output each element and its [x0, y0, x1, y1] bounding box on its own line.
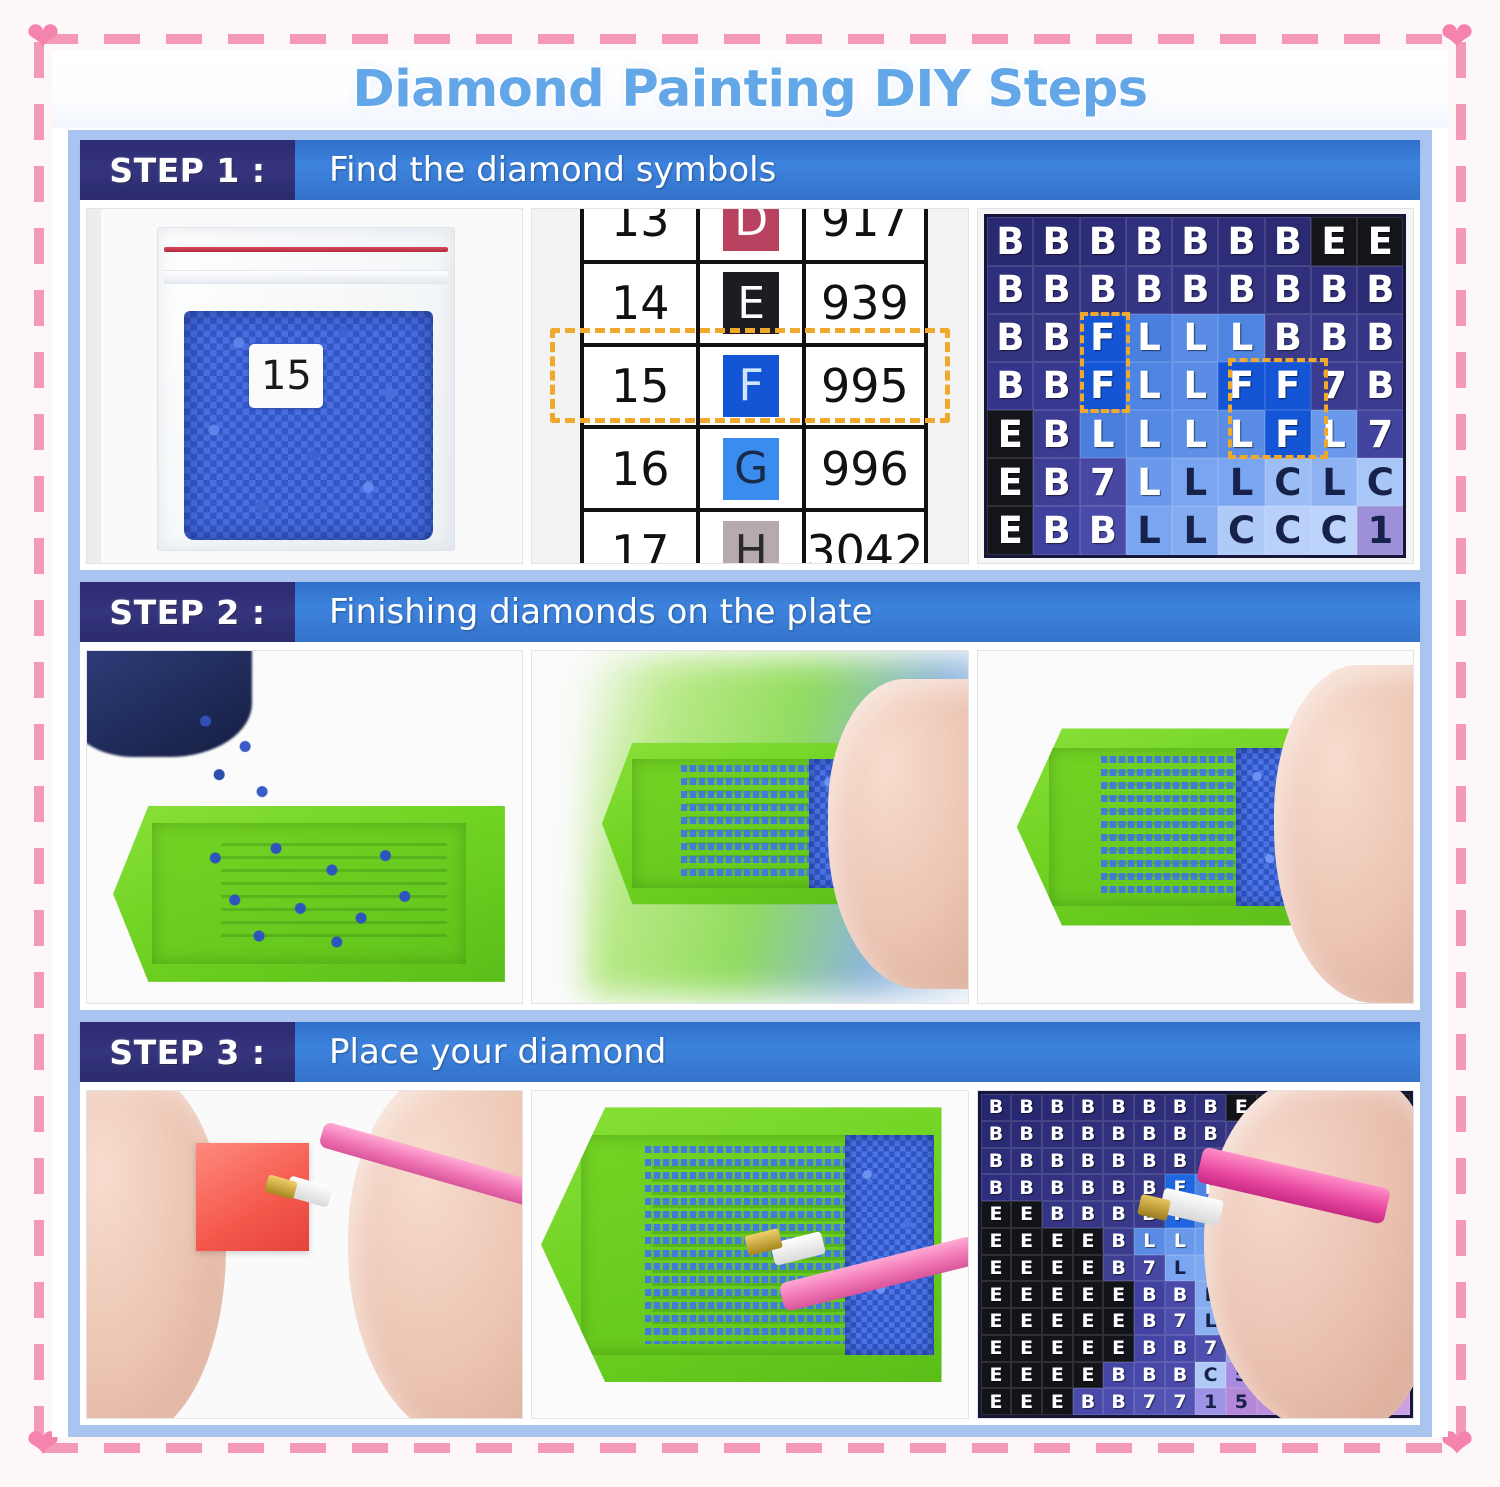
symbol-cell: C [1257, 1335, 1288, 1362]
symbol-cell: C [1195, 1362, 1226, 1389]
step-2-photo-row [80, 642, 1420, 1010]
symbol-cell: C [1349, 1308, 1380, 1335]
dmc-index-cell: 17 [584, 525, 696, 564]
shake-scene [532, 651, 967, 1003]
symbol-cell: C [1349, 1362, 1380, 1389]
symbol-cell: 1 [1257, 1362, 1288, 1389]
symbol-cell: B [1033, 458, 1079, 506]
dmc-row: 17H3042 [584, 512, 924, 564]
symbol-cell: B [1218, 266, 1264, 314]
symbol-cell: B [1042, 1148, 1073, 1175]
symbol-cell: C [1379, 1281, 1410, 1308]
symbol-cell: L [1218, 410, 1264, 458]
step-header-2: STEP 2 : Finishing diamonds on the plate [80, 582, 1420, 642]
symbol-cell: B [1349, 1174, 1380, 1201]
symbol-cell: 7 [1134, 1255, 1165, 1282]
symbol-cell: B [1134, 1174, 1165, 1201]
symbol-cell: F [1265, 362, 1311, 410]
symbol-cell: B [1265, 314, 1311, 362]
symbol-cell: B [1042, 1121, 1073, 1148]
step-block-2: STEP 2 : Finishing diamonds on the plate [80, 582, 1420, 1010]
symbol-cell: E [1103, 1308, 1134, 1335]
symbol-cell: E [1073, 1362, 1104, 1389]
symbol-cell: B [1379, 1201, 1410, 1228]
symbol-cell: B [1080, 217, 1126, 265]
symbol-cell: 7 [1349, 1228, 1380, 1255]
symbol-cell: L [1318, 1228, 1349, 1255]
symbol-cell: B [1042, 1201, 1073, 1228]
symbol-cell: E [1311, 217, 1357, 265]
symbol-cell: 7 [1134, 1388, 1165, 1415]
dmc-index-cell: 14 [584, 276, 696, 330]
dashed-border-left [34, 42, 44, 1445]
symbol-cell: L [1195, 1228, 1226, 1255]
symbol-cell: E [1042, 1308, 1073, 1335]
symbol-cell: E [1103, 1281, 1134, 1308]
symbol-cell: B [1103, 1255, 1134, 1282]
symbol-cell: B [1357, 314, 1403, 362]
symbol-cell: E [1042, 1281, 1073, 1308]
hand [1274, 665, 1414, 1003]
symbol-cell: L [1126, 314, 1172, 362]
dmc-index-cell: 13 [584, 208, 696, 247]
symbol-cell: E [1073, 1281, 1104, 1308]
symbol-cell: B [1379, 1148, 1410, 1175]
dmc-scene: 13D91714E93915F99516G99617H3042 [532, 209, 967, 563]
symbol-cell: B [1257, 1148, 1288, 1175]
symbol-cell: 5 [1379, 1388, 1410, 1415]
symbol-grid-step3: BBBBBBBBEEEEEEBBBBBBBBBBEEBBBBBBBBBBBBBB… [978, 1091, 1413, 1418]
symbol-cell: L [1172, 410, 1218, 458]
symbol-cell: E [1318, 1121, 1349, 1148]
symbol-cell: L [1195, 1308, 1226, 1335]
symbol-cell: L [1172, 506, 1218, 554]
aligned-scene [978, 651, 1413, 1003]
symbol-cell: E [1287, 1121, 1318, 1148]
symbol-cell: L [1226, 1174, 1257, 1201]
symbol-cell: 7 [1195, 1335, 1226, 1362]
symbol-cell: B [1126, 266, 1172, 314]
symbol-cell: 5 [1257, 1388, 1288, 1415]
symbol-cell: B [1172, 217, 1218, 265]
symbol-cell: B [1126, 217, 1172, 265]
symbol-cell: B [1134, 1148, 1165, 1175]
symbol-cell: E [981, 1281, 1012, 1308]
symbol-cell: L [1311, 458, 1357, 506]
symbol-cell: C [1287, 1308, 1318, 1335]
symbol-cell: B [981, 1174, 1012, 1201]
dmc-chart-photo: 13D91714E93915F99516G99617H3042 [531, 208, 968, 564]
symbol-cell: C [1318, 1255, 1349, 1282]
symbol-cell: B [987, 362, 1033, 410]
symbol-cell: F [1165, 1201, 1196, 1228]
symbol-cell: B [981, 1148, 1012, 1175]
symbol-cell: B [1318, 1174, 1349, 1201]
symbol-cell: C [1257, 1308, 1288, 1335]
symbol-cell: C [1218, 506, 1264, 554]
symbol-cell: 1 [1195, 1388, 1226, 1415]
step-header-3: STEP 3 : Place your diamond [80, 1022, 1420, 1082]
symbol-cell: B [1073, 1201, 1104, 1228]
dmc-symbol-swatch: F [723, 355, 779, 417]
symbol-cell: B [987, 266, 1033, 314]
symbol-cell: L [1218, 314, 1264, 362]
instruction-card: Diamond Painting DIY Steps STEP 1 : Find… [52, 50, 1448, 1437]
symbol-cell: B [1134, 1201, 1165, 1228]
symbol-cell: 5 [1226, 1388, 1257, 1415]
symbol-cell: E [1011, 1362, 1042, 1389]
symbol-cell: 7 [1080, 458, 1126, 506]
symbol-cell: L [1126, 458, 1172, 506]
symbol-cell: B [1165, 1094, 1196, 1121]
symbol-cell: C [1257, 1255, 1288, 1282]
dmc-index-cell: 15 [584, 359, 696, 413]
symbol-cell: B [1033, 266, 1079, 314]
symbol-grid-step1: BBBBBBBEEBBBBBBBBBBBFLLLBBBBBFLLFF7BEBLL… [984, 214, 1406, 557]
symbol-cell: E [1287, 1094, 1318, 1121]
symbol-cell: E [981, 1228, 1012, 1255]
dmc-code-cell: 939 [806, 276, 924, 330]
symbol-cell: L [1218, 458, 1264, 506]
place-on-canvas-photo: BBBBBBBBEEEEEEBBBBBBBBBBEEBBBBBBBBBBBBBB… [977, 1090, 1414, 1419]
dmc-symbol-cell: D [696, 208, 806, 260]
symbol-cell: B [981, 1121, 1012, 1148]
symbol-cell: C [1379, 1362, 1410, 1389]
symbol-cell: C [1265, 458, 1311, 506]
symbol-cell: B [1011, 1121, 1042, 1148]
symbol-cell: C [1318, 1362, 1349, 1389]
symbol-cell: B [1218, 217, 1264, 265]
symbol-cell: L [1226, 1255, 1257, 1282]
symbol-cell: 5 [1318, 1388, 1349, 1415]
symbol-cell: 7 [1357, 410, 1403, 458]
dmc-code-cell: 917 [806, 208, 924, 247]
dashed-border-top [42, 34, 1458, 44]
symbol-cell: B [1103, 1094, 1134, 1121]
symbol-cell: B [1349, 1201, 1380, 1228]
symbol-cell: B [1134, 1308, 1165, 1335]
step-tag-3: STEP 3 : [80, 1022, 295, 1082]
symbol-cell: B [1011, 1174, 1042, 1201]
symbol-cell: C [1349, 1255, 1380, 1282]
dmc-code-cell: 995 [806, 359, 924, 413]
symbol-cell: B [1011, 1148, 1042, 1175]
symbol-cell: E [1257, 1094, 1288, 1121]
symbol-cell: E [1357, 217, 1403, 265]
symbol-cell: B [1311, 314, 1357, 362]
symbol-cell: B [1080, 506, 1126, 554]
symbol-cell: B [1311, 266, 1357, 314]
symbol-cell: E [987, 506, 1033, 554]
shake-tray-photo [531, 650, 968, 1004]
dmc-code-cell: 996 [806, 442, 924, 496]
symbol-cell: B [1033, 362, 1079, 410]
symbol-cell: C [1287, 1362, 1318, 1389]
symbol-cell: B [1257, 1121, 1288, 1148]
symbol-cell: B [1103, 1228, 1134, 1255]
symbol-cell: E [1073, 1335, 1104, 1362]
symbol-cell: B [1379, 1174, 1410, 1201]
symbol-cell: L [1172, 458, 1218, 506]
symbol-cell: L [1195, 1174, 1226, 1201]
symbol-cell: B [1195, 1148, 1226, 1175]
symbol-cell: B [1265, 217, 1311, 265]
symbol-cell: E [981, 1388, 1012, 1415]
symbol-cell: B [1265, 266, 1311, 314]
canvas-symbol-grid-photo: BBBBBBBEEBBBBBBBBBBBFLLLBBBBBFLLFF7BEBLL… [977, 208, 1414, 564]
symbol-cell: B [1195, 1121, 1226, 1148]
green-tray [541, 1107, 942, 1382]
step-caption-1: Find the diamond symbols [295, 140, 1420, 200]
symbol-cell: F [1287, 1228, 1318, 1255]
symbol-cell: L [1287, 1255, 1318, 1282]
symbol-cell: E [981, 1255, 1012, 1282]
symbol-cell: B [1287, 1148, 1318, 1175]
symbol-cell: E [1011, 1228, 1042, 1255]
symbol-cell: B [987, 314, 1033, 362]
bead-bag-photo: 15 [86, 208, 523, 564]
pickup-bead-photo [531, 1090, 968, 1419]
symbol-cell: L [1226, 1201, 1257, 1228]
symbol-cell: L [1195, 1281, 1226, 1308]
symbol-cell: B [981, 1094, 1012, 1121]
symbol-cell: L [1311, 410, 1357, 458]
symbol-cell: B [1103, 1362, 1134, 1389]
symbol-cell: B [1134, 1121, 1165, 1148]
symbol-cell: E [1073, 1228, 1104, 1255]
canvas-scene: BBBBBBBBEEEEEEBBBBBBBBBBEEBBBBBBBBBBBBBB… [978, 1091, 1413, 1418]
symbol-cell: B [1073, 1174, 1104, 1201]
step-tag-2: STEP 2 : [80, 582, 295, 642]
dmc-row: 15F995 [584, 347, 924, 430]
symbol-cell: 7 [1311, 362, 1357, 410]
symbol-cell: E [1103, 1335, 1134, 1362]
symbol-cell: E [1011, 1388, 1042, 1415]
step-1-photo-row: 15 13D91714E93915F99516G99617H3042 BBBBB… [80, 200, 1420, 570]
symbol-cell: B [1134, 1281, 1165, 1308]
symbol-cell: L [1165, 1255, 1196, 1282]
symbol-cell: B [1033, 217, 1079, 265]
symbol-cell: L [1126, 506, 1172, 554]
title-banner: Diamond Painting DIY Steps [52, 50, 1448, 128]
symbol-cell: E [1042, 1255, 1073, 1282]
symbol-cell: 7 [1165, 1388, 1196, 1415]
symbol-cell: L [1257, 1201, 1288, 1228]
symbol-cell: C [1379, 1255, 1410, 1282]
symbol-cell: B [1379, 1121, 1410, 1148]
symbol-cell: B [1011, 1094, 1042, 1121]
symbol-cell: F [1080, 362, 1126, 410]
pour-beads-photo [86, 650, 523, 1004]
step-block-3: STEP 3 : Place your diamond [80, 1022, 1420, 1425]
symbol-cell: E [1011, 1308, 1042, 1335]
dashed-border-right [1456, 42, 1466, 1445]
symbol-cell: B [1080, 266, 1126, 314]
steps-container: STEP 1 : Find the diamond symbols 15 [68, 130, 1432, 1437]
symbol-cell: L [1257, 1174, 1288, 1201]
dmc-symbol-swatch: H [723, 521, 779, 564]
symbol-cell: C [1318, 1281, 1349, 1308]
pour-scene [87, 651, 522, 1003]
symbol-cell: E [1073, 1255, 1104, 1282]
symbol-cell: F [1287, 1201, 1318, 1228]
symbol-cell: L [1126, 362, 1172, 410]
step-caption-3: Place your diamond [295, 1022, 1420, 1082]
symbol-cell: B [1349, 1121, 1380, 1148]
symbol-cell: L [1165, 1228, 1196, 1255]
pickup-scene [532, 1091, 967, 1418]
symbol-cell: C [1318, 1308, 1349, 1335]
symbol-cell: L [1226, 1228, 1257, 1255]
symbol-cell: E [1042, 1335, 1073, 1362]
symbol-cell: B [1318, 1148, 1349, 1175]
symbol-cell: B [1357, 266, 1403, 314]
symbol-cell: C [1379, 1335, 1410, 1362]
wax-scene [87, 1091, 522, 1418]
hand [86, 1090, 226, 1419]
symbol-cell: L [1195, 1255, 1226, 1282]
dmc-row: 13D917 [584, 208, 924, 264]
symbol-cell: B [1033, 410, 1079, 458]
dmc-symbol-swatch: G [723, 438, 779, 500]
step-tag-1: STEP 1 : [80, 140, 295, 200]
symbol-cell: 1 [1357, 506, 1403, 554]
page-title: Diamond Painting DIY Steps [352, 60, 1147, 119]
symbol-cell: B [1287, 1174, 1318, 1201]
symbol-cell: B [1134, 1335, 1165, 1362]
symbol-cell: 5 [1226, 1362, 1257, 1389]
bead-pile [845, 1135, 933, 1355]
symbol-cell: C [1257, 1281, 1288, 1308]
symbol-cell: L [1195, 1201, 1226, 1228]
symbol-cell: L [1126, 410, 1172, 458]
symbol-cell: E [1349, 1094, 1380, 1121]
symbol-cell: B [1073, 1148, 1104, 1175]
symbol-cell: L [1172, 362, 1218, 410]
symbol-cell: B [1165, 1335, 1196, 1362]
green-tray [113, 806, 505, 982]
dmc-row: 16G996 [584, 429, 924, 512]
aligned-beads-photo [977, 650, 1414, 1004]
step-3-photo-row: BBBBBBBBEEEEEEBBBBBBBBBBEEBBBBBBBBBBBBBB… [80, 1082, 1420, 1425]
scattered-beads [191, 834, 434, 954]
wax-pen-photo [86, 1090, 523, 1419]
symbol-cell: E [1042, 1362, 1073, 1389]
dmc-table: 13D91714E93915F99516G99617H3042 [580, 208, 928, 564]
symbol-cell: B [1349, 1148, 1380, 1175]
symbol-cell: C [1357, 458, 1403, 506]
symbol-cell: B [1165, 1121, 1196, 1148]
symbol-cell: B [1103, 1121, 1134, 1148]
step-caption-2: Finishing diamonds on the plate [295, 582, 1420, 642]
zip-bag: 15 [157, 227, 455, 551]
symbol-cell: B [1134, 1362, 1165, 1389]
dmc-symbol-swatch: E [723, 272, 779, 334]
symbol-cell: C [1311, 506, 1357, 554]
dmc-symbol-swatch: D [723, 208, 779, 251]
step-block-1: STEP 1 : Find the diamond symbols 15 [80, 140, 1420, 570]
symbol-cell: B [1134, 1094, 1165, 1121]
symbol-cell: L [1134, 1228, 1165, 1255]
symbol-cell: B [1226, 1121, 1257, 1148]
symbol-cell: C [1287, 1281, 1318, 1308]
symbol-cell: E [1226, 1094, 1257, 1121]
symbol-cell: E [981, 1335, 1012, 1362]
dmc-index-cell: 16 [584, 442, 696, 496]
dmc-symbol-cell: F [696, 347, 806, 426]
dmc-symbol-cell: G [696, 429, 806, 508]
symbol-cell: C [1318, 1335, 1349, 1362]
symbol-cell: B [1103, 1148, 1134, 1175]
symbol-cell: C [1379, 1308, 1410, 1335]
symbol-cell: B [1033, 314, 1079, 362]
symbol-cell: C [1265, 506, 1311, 554]
symbol-cell: E [981, 1362, 1012, 1389]
dmc-symbol-cell: E [696, 264, 806, 343]
symbol-cell: L [1226, 1281, 1257, 1308]
symbol-cell: F [1165, 1174, 1196, 1201]
bag-zip-fold [164, 270, 448, 284]
symbol-cell: B [1103, 1388, 1134, 1415]
symbol-cell: E [1011, 1201, 1042, 1228]
symbol-cell: B [1172, 266, 1218, 314]
symbol-cell: B [1165, 1362, 1196, 1389]
symbol-cell: B [1073, 1388, 1104, 1415]
symbol-cell: L [1257, 1228, 1288, 1255]
dmc-row: 14E939 [584, 264, 924, 347]
symbol-cell: C [1226, 1308, 1257, 1335]
symbol-cell: B [1357, 362, 1403, 410]
symbol-cell: E [981, 1201, 1012, 1228]
step-header-1: STEP 1 : Find the diamond symbols [80, 140, 1420, 200]
symbol-cell: E [1011, 1281, 1042, 1308]
symbol-cell: C [1349, 1281, 1380, 1308]
symbol-cell: B [1379, 1228, 1410, 1255]
symbol-cell: 5 [1287, 1388, 1318, 1415]
symbol-cell: B [1103, 1201, 1134, 1228]
symbol-cell: E [1011, 1335, 1042, 1362]
symbol-cell: C [1349, 1335, 1380, 1362]
symbol-cell: 1 [1226, 1335, 1257, 1362]
symbol-cell: C [1287, 1335, 1318, 1362]
symbol-cell: L [1172, 314, 1218, 362]
symbol-grid-scene: BBBBBBBEEBBBBBBBBBBBFLLLBBBBBFLLFF7BEBLL… [978, 209, 1413, 563]
symbol-cell: E [981, 1308, 1012, 1335]
dmc-code-cell: 3042 [806, 525, 924, 564]
symbol-cell: E [1011, 1255, 1042, 1282]
symbol-cell: B [1042, 1094, 1073, 1121]
symbol-cell: E [987, 410, 1033, 458]
symbol-cell: B [1073, 1094, 1104, 1121]
symbol-cell: B [1195, 1094, 1226, 1121]
symbol-cell: B [1165, 1281, 1196, 1308]
symbol-cell: L [1080, 410, 1126, 458]
symbol-cell: E [987, 458, 1033, 506]
symbol-cell: B [1042, 1174, 1073, 1201]
symbol-cell: F [1080, 314, 1126, 362]
symbol-cell: E [1379, 1094, 1410, 1121]
symbol-cell: E [1042, 1228, 1073, 1255]
symbol-cell: E [1318, 1094, 1349, 1121]
bag-number-label: 15 [249, 344, 323, 408]
symbol-cell: F [1265, 410, 1311, 458]
symbol-cell: 7 [1318, 1201, 1349, 1228]
bag-scene: 15 [87, 209, 522, 563]
symbol-cell: E [1073, 1308, 1104, 1335]
symbol-cell: B [1033, 506, 1079, 554]
symbol-cell: B [987, 217, 1033, 265]
bag-zip-seal [164, 247, 448, 252]
